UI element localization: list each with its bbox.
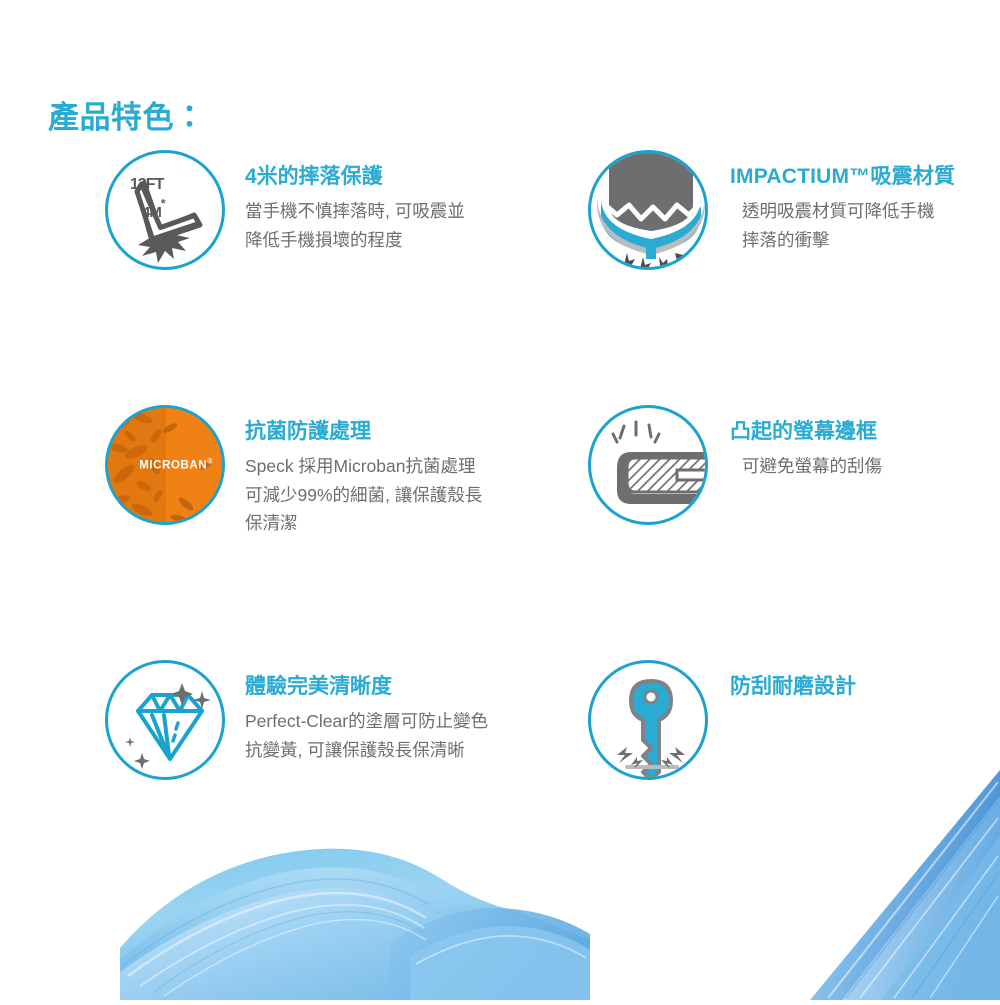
desc-line: Perfect-Clear的塗層可防止變色 — [245, 711, 488, 731]
feature-row: 體驗完美清晰度 Perfect-Clear的塗層可防止變色 抗變黃, 可讓保護殼… — [0, 660, 1000, 915]
desc-line: Speck 採用Microban抗菌處理 — [245, 456, 475, 476]
drop-feet-label: 13FT — [130, 167, 163, 194]
drop-meters-label: 4M* — [142, 195, 165, 221]
feature-item-clarity: 體驗完美清晰度 Perfect-Clear的塗層可防止變色 抗變黃, 可讓保護殼… — [105, 660, 555, 780]
feature-row: MICROBAN® 抗菌防護處理 Speck 採用Microban抗菌處理 可減… — [0, 405, 1000, 660]
feature-description: Speck 採用Microban抗菌處理 可減少99%的細菌, 讓保護殼長 保清… — [245, 452, 482, 537]
desc-line: 可避免螢幕的刮傷 — [742, 456, 882, 476]
feature-item-scratch-resistant: 防刮耐磨設計 — [588, 660, 1000, 780]
drop-feet-unit: FT — [146, 176, 164, 193]
microban-text: MICROBAN — [139, 459, 207, 471]
feature-text: 防刮耐磨設計 — [708, 660, 856, 707]
feature-description: 透明吸震材質可降低手機 摔落的衝擊 — [730, 197, 955, 254]
drop-asterisk: * — [161, 196, 165, 210]
feature-text: 凸起的螢幕邊框 可避免螢幕的刮傷 — [708, 405, 882, 481]
feature-description: 當手機不慎摔落時, 可吸震並 降低手機損壞的程度 — [245, 197, 465, 254]
feature-description: 可避免螢幕的刮傷 — [730, 452, 882, 480]
feature-text: IMPACTIUM™吸震材質 透明吸震材質可降低手機 摔落的衝擊 — [708, 150, 955, 254]
feature-title: 抗菌防護處理 — [245, 419, 482, 445]
desc-line: 可減少99%的細菌, 讓保護殼長 — [245, 485, 482, 505]
feature-title: 凸起的螢幕邊框 — [730, 419, 882, 445]
feature-item-drop-protection: 13FT 4M* 4米的摔落保護 當手機不慎摔落時, 可吸震並 降低手機損壞的程… — [105, 150, 555, 270]
desc-line: 保清潔 — [245, 513, 298, 533]
registered-mark: ® — [207, 459, 213, 466]
drop-meters-unit: M — [149, 204, 161, 221]
raised-bezel-icon — [588, 405, 708, 525]
desc-line: 降低手機損壞的程度 — [245, 230, 403, 250]
feature-text: 體驗完美清晰度 Perfect-Clear的塗層可防止變色 抗變黃, 可讓保護殼… — [225, 660, 488, 764]
feature-title: 防刮耐磨設計 — [730, 674, 856, 700]
impactium-cushion-icon — [588, 150, 708, 270]
feature-title: IMPACTIUM™吸震材質 — [730, 164, 955, 190]
feature-description: Perfect-Clear的塗層可防止變色 抗變黃, 可讓保護殼長保清晰 — [245, 707, 488, 764]
microban-antimicrobial-icon: MICROBAN® — [105, 405, 225, 525]
feature-text: 抗菌防護處理 Speck 採用Microban抗菌處理 可減少99%的細菌, 讓… — [225, 405, 482, 537]
feature-title: 體驗完美清晰度 — [245, 674, 488, 700]
desc-line: 當手機不慎摔落時, 可吸震並 — [245, 201, 465, 221]
drop-protection-icon: 13FT 4M* — [105, 150, 225, 270]
page-title: 產品特色： — [48, 92, 206, 137]
feature-title: 4米的摔落保護 — [245, 164, 465, 190]
feature-row: 13FT 4M* 4米的摔落保護 當手機不慎摔落時, 可吸震並 降低手機損壞的程… — [0, 150, 1000, 405]
desc-line: 透明吸震材質可降低手機 — [742, 201, 935, 221]
diamond-clarity-icon — [105, 660, 225, 780]
feature-item-antimicrobial: MICROBAN® 抗菌防護處理 Speck 採用Microban抗菌處理 可減… — [105, 405, 555, 537]
feature-item-raised-bezel: 凸起的螢幕邊框 可避免螢幕的刮傷 — [588, 405, 1000, 525]
feature-item-impactium: IMPACTIUM™吸震材質 透明吸震材質可降低手機 摔落的衝擊 — [588, 150, 1000, 270]
feature-text: 4米的摔落保護 當手機不慎摔落時, 可吸震並 降低手機損壞的程度 — [225, 150, 465, 254]
drop-feet-value: 13 — [130, 176, 146, 193]
desc-line: 摔落的衝擊 — [742, 230, 830, 250]
feature-list: 13FT 4M* 4米的摔落保護 當手機不慎摔落時, 可吸震並 降低手機損壞的程… — [0, 150, 1000, 915]
microban-wordmark: MICROBAN® — [139, 459, 213, 472]
key-scratch-icon — [588, 660, 708, 780]
desc-line: 抗變黃, 可讓保護殼長保清晰 — [245, 740, 465, 760]
